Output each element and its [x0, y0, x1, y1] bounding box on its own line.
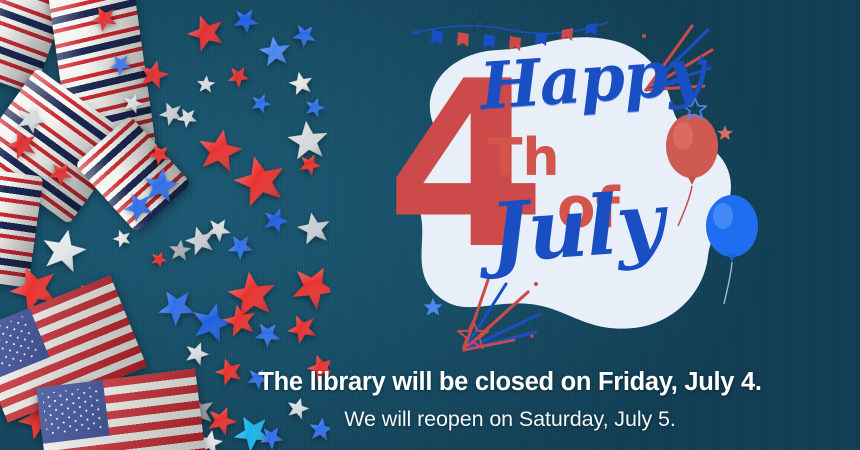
- closure-headline: The library will be closed on Friday, Ju…: [160, 368, 860, 397]
- fourth-of-july-graphic: 4 Happy Th of July: [372, 8, 752, 358]
- confetti-star: [247, 89, 276, 118]
- confetti-star: [180, 6, 231, 57]
- confetti-star: [226, 146, 294, 214]
- confetti-star: [167, 237, 193, 263]
- holiday-closure-banner: 4 Happy Th of July The library will be c…: [0, 0, 860, 450]
- word-happy: Happy: [478, 34, 706, 124]
- red-star-outline-icon: [456, 318, 490, 352]
- confetti-star: [195, 73, 217, 95]
- navy-star-outline-icon: [468, 12, 490, 34]
- reopen-subline: We will reopen on Saturday, July 5.: [160, 407, 860, 432]
- word-july: July: [487, 174, 666, 282]
- blue-balloon-icon: [702, 188, 764, 306]
- closure-message: The library will be closed on Friday, Ju…: [0, 368, 860, 432]
- confetti-star: [221, 59, 255, 93]
- confetti-star: [109, 225, 135, 251]
- confetti-star: [287, 17, 324, 54]
- confetti-star: [227, 1, 265, 39]
- small-red-star-icon: [716, 124, 734, 142]
- word-th-suffix: Th: [487, 128, 560, 188]
- confetti-star: [293, 207, 330, 249]
